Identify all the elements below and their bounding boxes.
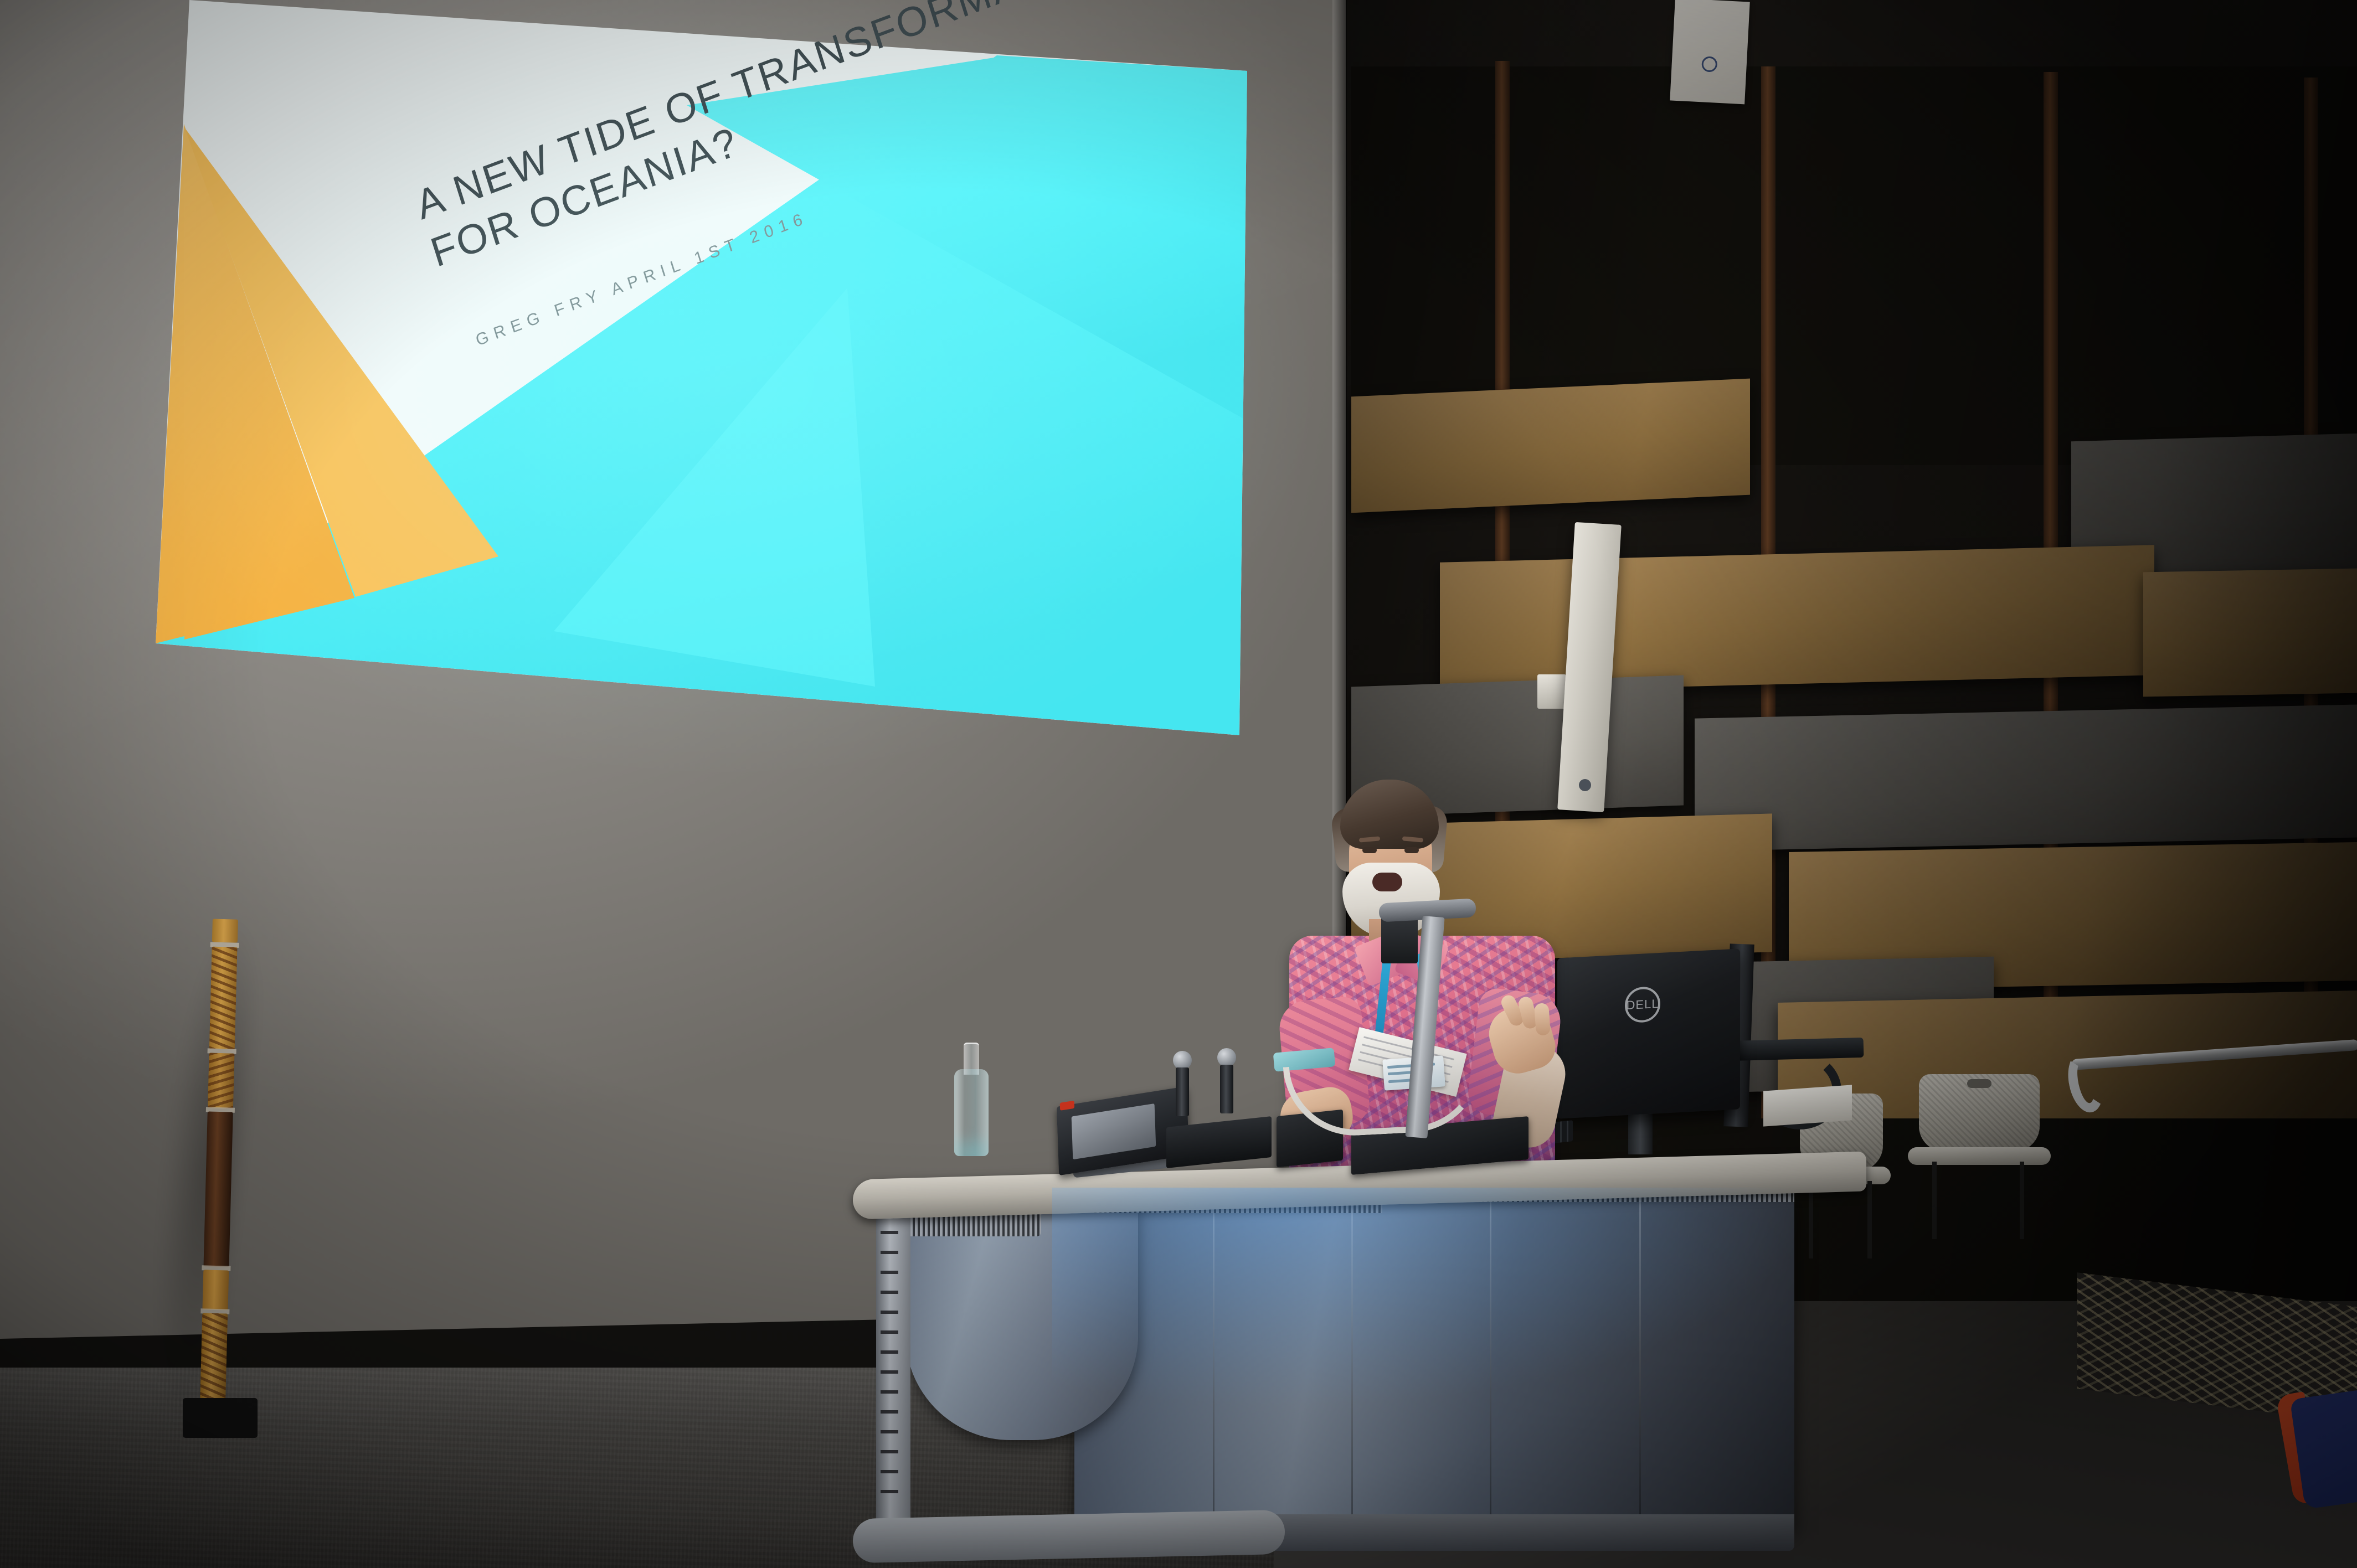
microphone-head-icon (1217, 1048, 1236, 1067)
lecture-theatre-scene: A NEW TIDE OF TRANSFORMATION FOR OCEANIA… (0, 0, 2357, 1568)
computer-monitor: DELL (1557, 948, 1740, 1118)
water-carafe[interactable] (951, 1043, 991, 1156)
white-equipment-box (1763, 1085, 1852, 1126)
power-indicator-icon (1060, 1101, 1074, 1111)
microphone-body (1220, 1065, 1233, 1113)
didgeridoo-stand (183, 1398, 258, 1438)
chair-back (1919, 1074, 2040, 1152)
lectern-foot (853, 1510, 1285, 1563)
presenter-mouth (1372, 873, 1402, 891)
lectern-cabinet (1074, 1196, 1794, 1529)
paper-sign (1670, 0, 1749, 104)
dell-logo-icon: DELL (1625, 986, 1660, 1023)
control-panel-screen[interactable] (1072, 1103, 1156, 1159)
lectern (853, 1149, 1866, 1568)
chair-seat (1908, 1147, 2050, 1165)
presenter-hair (1340, 780, 1439, 849)
microphone-head-icon (1173, 1051, 1192, 1070)
speaker-port-icon (1579, 779, 1591, 791)
sign-logo-icon (1701, 56, 1717, 72)
microphone-body (1176, 1067, 1189, 1116)
lectern-leg (876, 1209, 910, 1519)
speaker-bracket (1537, 674, 1566, 709)
carafe-body (954, 1069, 989, 1156)
lectern-front-drum (905, 1202, 1138, 1440)
